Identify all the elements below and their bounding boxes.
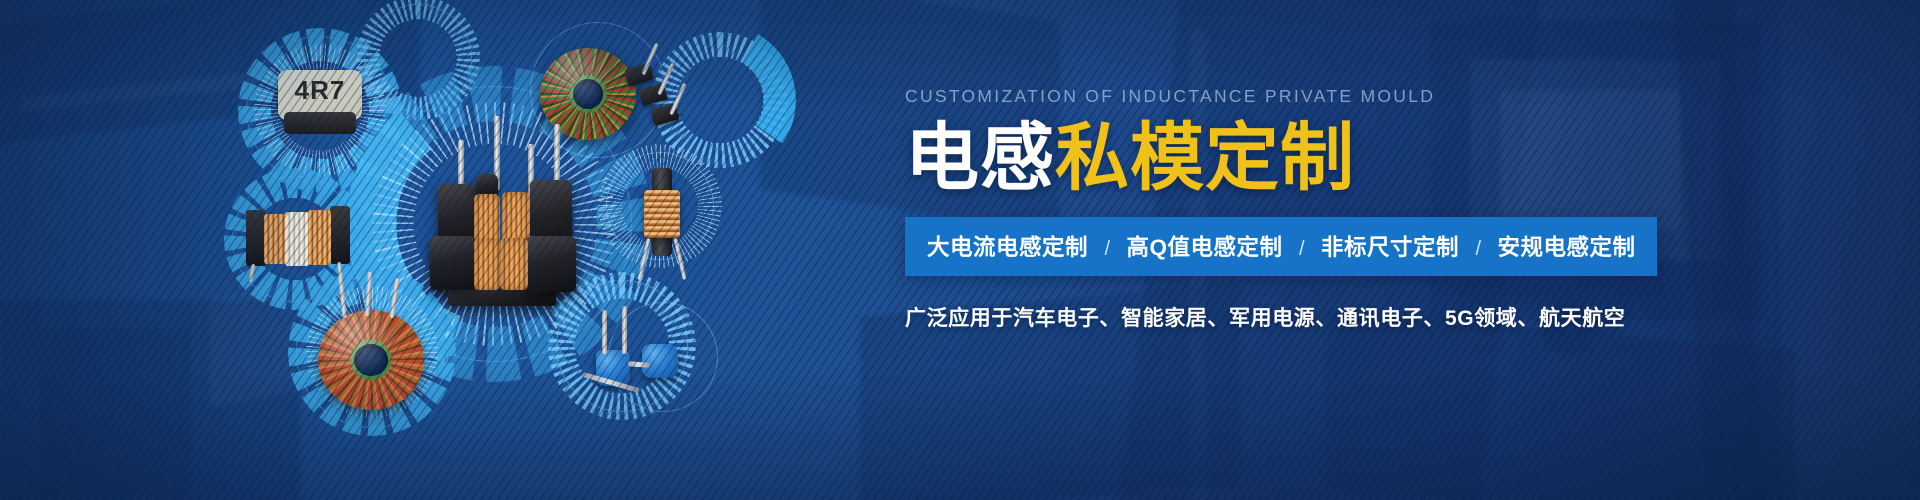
smd-power-inductor: 4R7 bbox=[278, 66, 362, 138]
banner-headline: 电感私模定制 bbox=[905, 121, 1605, 195]
headline-white-part: 电感 bbox=[905, 116, 1055, 199]
feature-separator-1: / bbox=[1092, 238, 1122, 260]
toroidal-inductor-red-green bbox=[318, 310, 424, 410]
bobbin-wound-choke bbox=[246, 196, 350, 282]
feature-separator-3: / bbox=[1463, 238, 1493, 260]
feature-item-3: 非标尺寸定制 bbox=[1321, 235, 1459, 260]
rod-core-inductor-copper bbox=[630, 168, 696, 280]
feature-item-1: 大电流电感定制 bbox=[927, 235, 1088, 260]
headline-gold-part: 私模定制 bbox=[1055, 116, 1355, 199]
banner-copy: CUSTOMIZATION OF INDUCTANCE PRIVATE MOUL… bbox=[905, 86, 1605, 332]
feature-separator-2: / bbox=[1287, 238, 1317, 260]
smd-marking: 4R7 bbox=[278, 77, 362, 103]
choke-lower-body bbox=[430, 236, 580, 296]
hero-banner: 4R7 bbox=[0, 0, 1920, 500]
feature-bar: 大电流电感定制 / 高Q值电感定制 / 非标尺寸定制 / 安规电感定制 bbox=[905, 217, 1657, 276]
feature-item-4: 安规电感定制 bbox=[1497, 235, 1635, 260]
feature-item-2: 高Q值电感定制 bbox=[1126, 235, 1282, 260]
banner-eyebrow: CUSTOMIZATION OF INDUCTANCE PRIVATE MOUL… bbox=[905, 86, 1605, 107]
smd-base bbox=[284, 112, 356, 134]
banner-tagline: 广泛应用于汽车电子、智能家居、军用电源、通讯电子、5G领域、航天航空 bbox=[905, 302, 1605, 332]
radial-leaded-inductor-blue bbox=[588, 300, 696, 400]
